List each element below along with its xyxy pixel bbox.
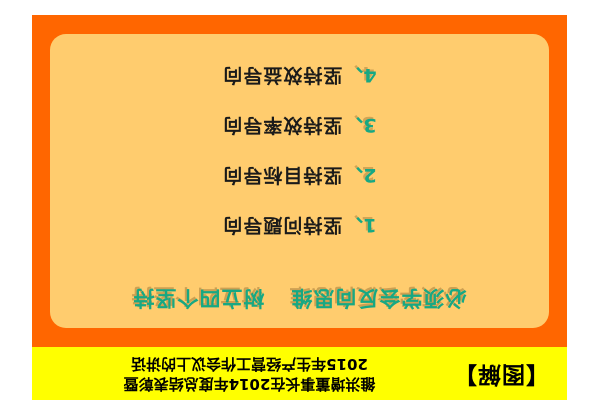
points-list: 1、 坚持问题导向 2、 坚持目标导向 3、 坚持效率导向 4、 坚持效益导向 [50,52,549,252]
list-item-label: 坚持效率导向 [222,114,342,141]
header-tag-label: 【图解】 [453,362,549,385]
list-item: 3、 坚持效率导向 [50,102,549,152]
section-heading-left: 必须学会反向思维 [291,286,467,310]
content-panel: 必须学会反向思维树立四个坚持 1、 坚持问题导向 2、 坚持目标导向 3、 坚持… [50,34,549,328]
header-title-line-1: 雒洪增董事长在2014年度总结表彰暨 [124,374,376,393]
list-item: 4、 坚持效益导向 [50,52,549,102]
section-heading-right: 树立四个坚持 [133,286,265,310]
list-item-number: 2、 [344,164,376,191]
section-heading: 必须学会反向思维树立四个坚持 [50,284,549,314]
screenshot-canvas: 【图解】 雒洪增董事长在2014年度总结表彰暨 2015年生产经营工作会议上的讲… [0,0,600,400]
header-title-group: 雒洪增董事长在2014年度总结表彰暨 2015年生产经营工作会议上的讲话 [32,354,453,392]
list-item-label: 坚持效益导向 [222,64,342,91]
list-item-number: 4、 [344,64,376,91]
list-item: 1、 坚持问题导向 [50,202,549,252]
list-item-number: 3、 [344,114,376,141]
orange-frame: 必须学会反向思维树立四个坚持 1、 坚持问题导向 2、 坚持目标导向 3、 坚持… [32,15,567,347]
list-item-label: 坚持目标导向 [222,164,342,191]
infographic-poster: 【图解】 雒洪增董事长在2014年度总结表彰暨 2015年生产经营工作会议上的讲… [0,0,600,400]
list-item-label: 坚持问题导向 [222,214,342,241]
list-item: 2、 坚持目标导向 [50,152,549,202]
header-band: 【图解】 雒洪增董事长在2014年度总结表彰暨 2015年生产经营工作会议上的讲… [32,347,567,400]
header-title-line-2: 2015年生产经营工作会议上的讲话 [131,354,368,373]
list-item-number: 1、 [344,214,376,241]
